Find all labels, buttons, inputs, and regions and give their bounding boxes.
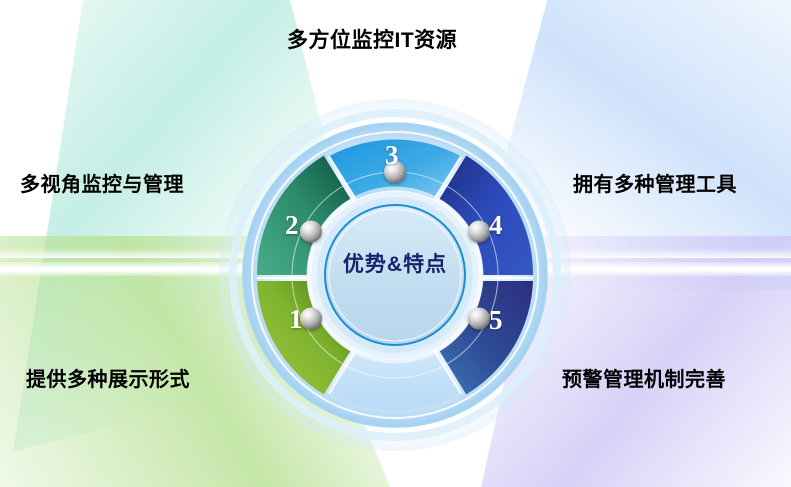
caption-bottom-right: 预警管理机制完善	[562, 363, 726, 392]
segment-number-2: 2	[285, 212, 299, 239]
caption-top-left: 多视角监控与管理	[20, 168, 184, 197]
segment-number-5: 5	[489, 307, 503, 334]
diagram-canvas: 1 2 3 4 5 优势&特点 多方位监控IT资源 多视角监控与管理 提供多种展…	[0, 0, 791, 487]
caption-bottom-left: 提供多种展示形式	[26, 363, 190, 392]
caption-top-right: 拥有多种管理工具	[573, 168, 737, 197]
segment-number-1: 1	[289, 306, 303, 333]
segment-number-3: 3	[385, 142, 399, 169]
center-label: 优势&特点	[310, 248, 480, 278]
caption-top: 多方位监控IT资源	[287, 24, 457, 54]
segment-number-4: 4	[489, 212, 503, 239]
